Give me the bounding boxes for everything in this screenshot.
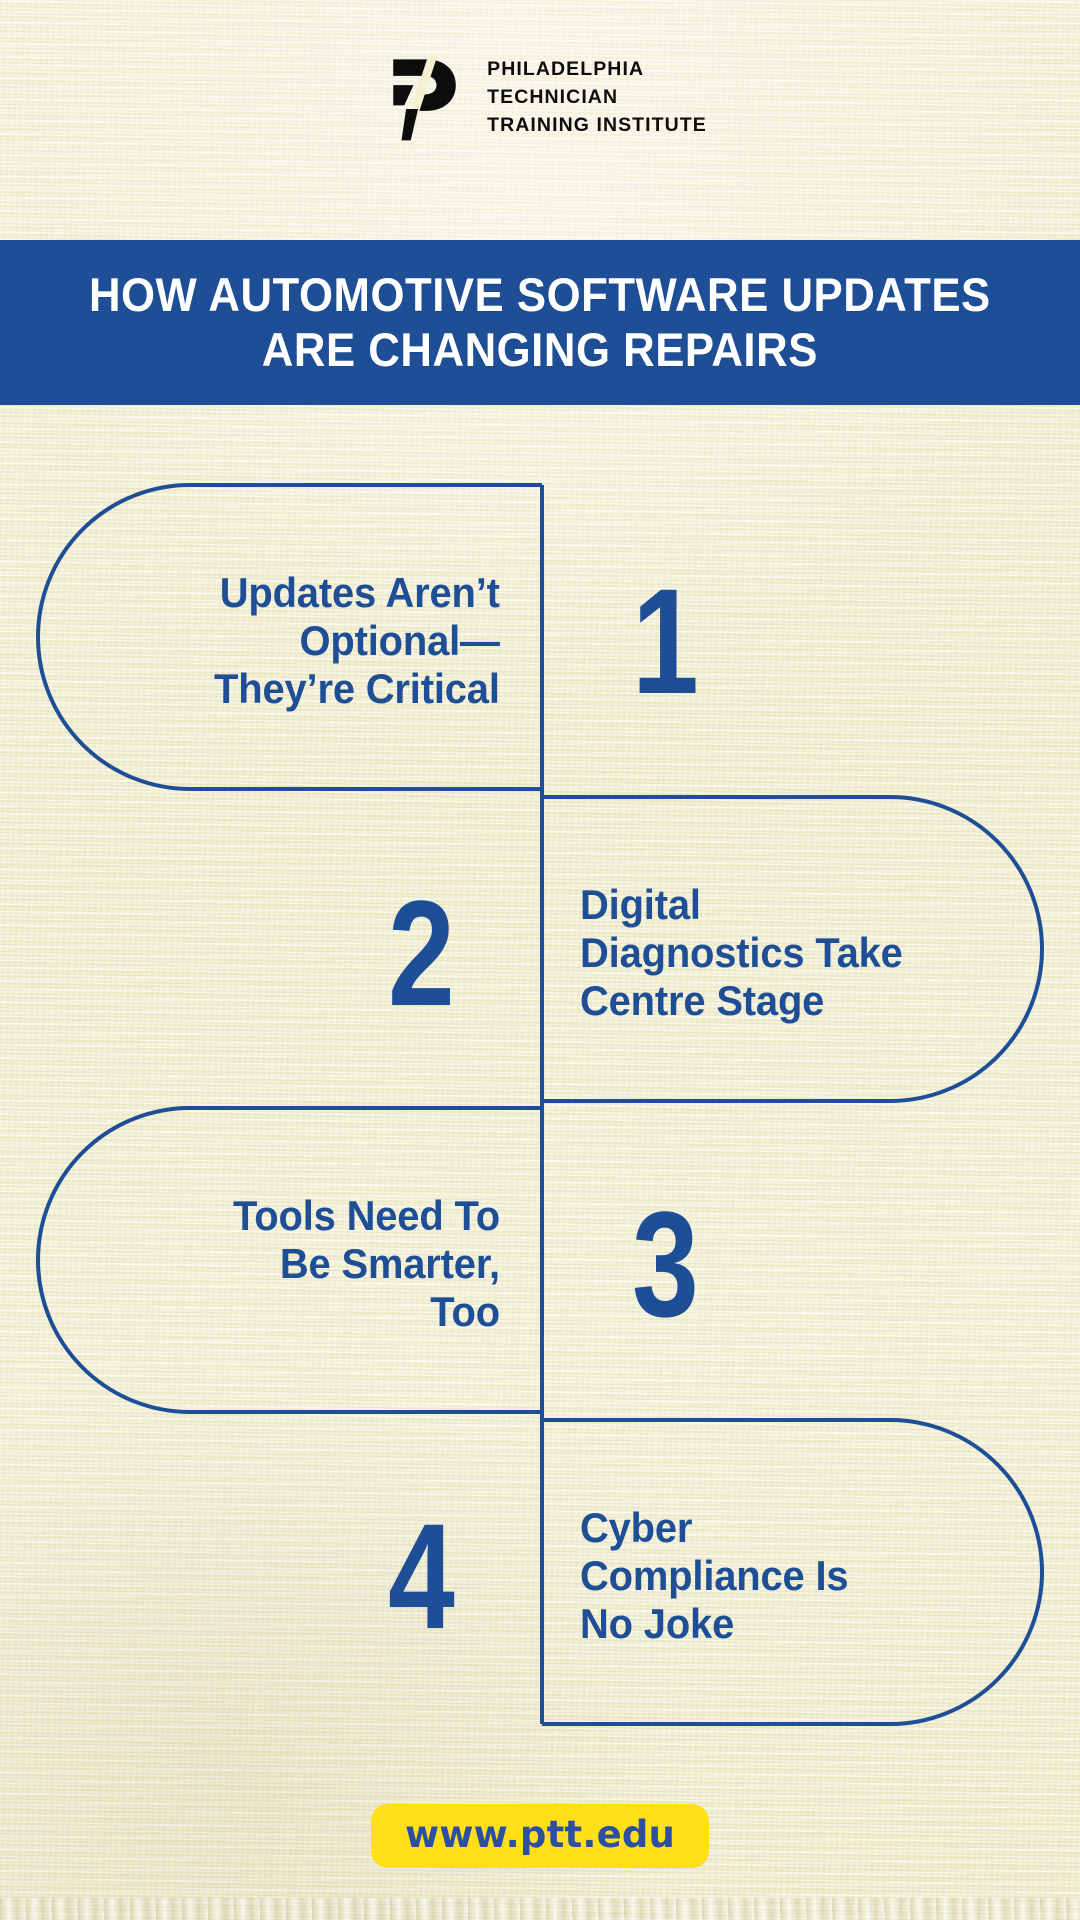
list-item-number: 3 (632, 1201, 696, 1327)
list-item-label-cell: Cyber Compliance Is No Joke (540, 1504, 1080, 1649)
list-item: Updates Aren’t Optional— They’re Critica… (0, 485, 1080, 797)
infographic-page: PHILADELPHIA TECHNICIAN TRAINING INSTITU… (0, 0, 1080, 1920)
list-item-label-cell: Digital Diagnostics Take Centre Stage (540, 881, 1080, 1026)
brand-header: PHILADELPHIA TECHNICIAN TRAINING INSTITU… (0, 52, 1080, 144)
list-item-number: 4 (388, 1513, 452, 1639)
list-item-label: Updates Aren’t Optional— They’re Critica… (214, 569, 500, 714)
footer: www.ptt.edu (0, 1804, 1080, 1868)
brand-name: PHILADELPHIA TECHNICIAN TRAINING INSTITU… (487, 56, 707, 139)
page-title: HOW AUTOMOTIVE SOFTWARE UPDATES ARE CHAN… (89, 268, 991, 377)
list-item: Tools Need To Be Smarter, Too 3 (0, 1108, 1080, 1420)
list-item-label: Tools Need To Be Smarter, Too (233, 1192, 500, 1337)
list-item-number-cell: 1 (540, 578, 1080, 704)
list-item: 4 Cyber Compliance Is No Joke (0, 1420, 1080, 1732)
title-banner: HOW AUTOMOTIVE SOFTWARE UPDATES ARE CHAN… (0, 240, 1080, 405)
website-url-badge[interactable]: www.ptt.edu (371, 1804, 709, 1868)
list-item: 2 Digital Diagnostics Take Centre Stage (0, 797, 1080, 1109)
list-item-label-cell: Updates Aren’t Optional— They’re Critica… (0, 569, 540, 714)
list-item-label: Digital Diagnostics Take Centre Stage (580, 881, 903, 1026)
list-item-number: 1 (632, 578, 696, 704)
torn-paper-edge (0, 1898, 1080, 1920)
ptt-monogram-icon (373, 52, 465, 144)
list-item-label-cell: Tools Need To Be Smarter, Too (0, 1192, 540, 1337)
list-item-label: Cyber Compliance Is No Joke (580, 1504, 848, 1649)
list-item-number-cell: 2 (0, 890, 540, 1016)
list-item-number-cell: 4 (0, 1513, 540, 1639)
snake-list: Updates Aren’t Optional— They’re Critica… (0, 480, 1080, 1730)
list-item-number: 2 (388, 890, 452, 1016)
list-item-number-cell: 3 (540, 1201, 1080, 1327)
